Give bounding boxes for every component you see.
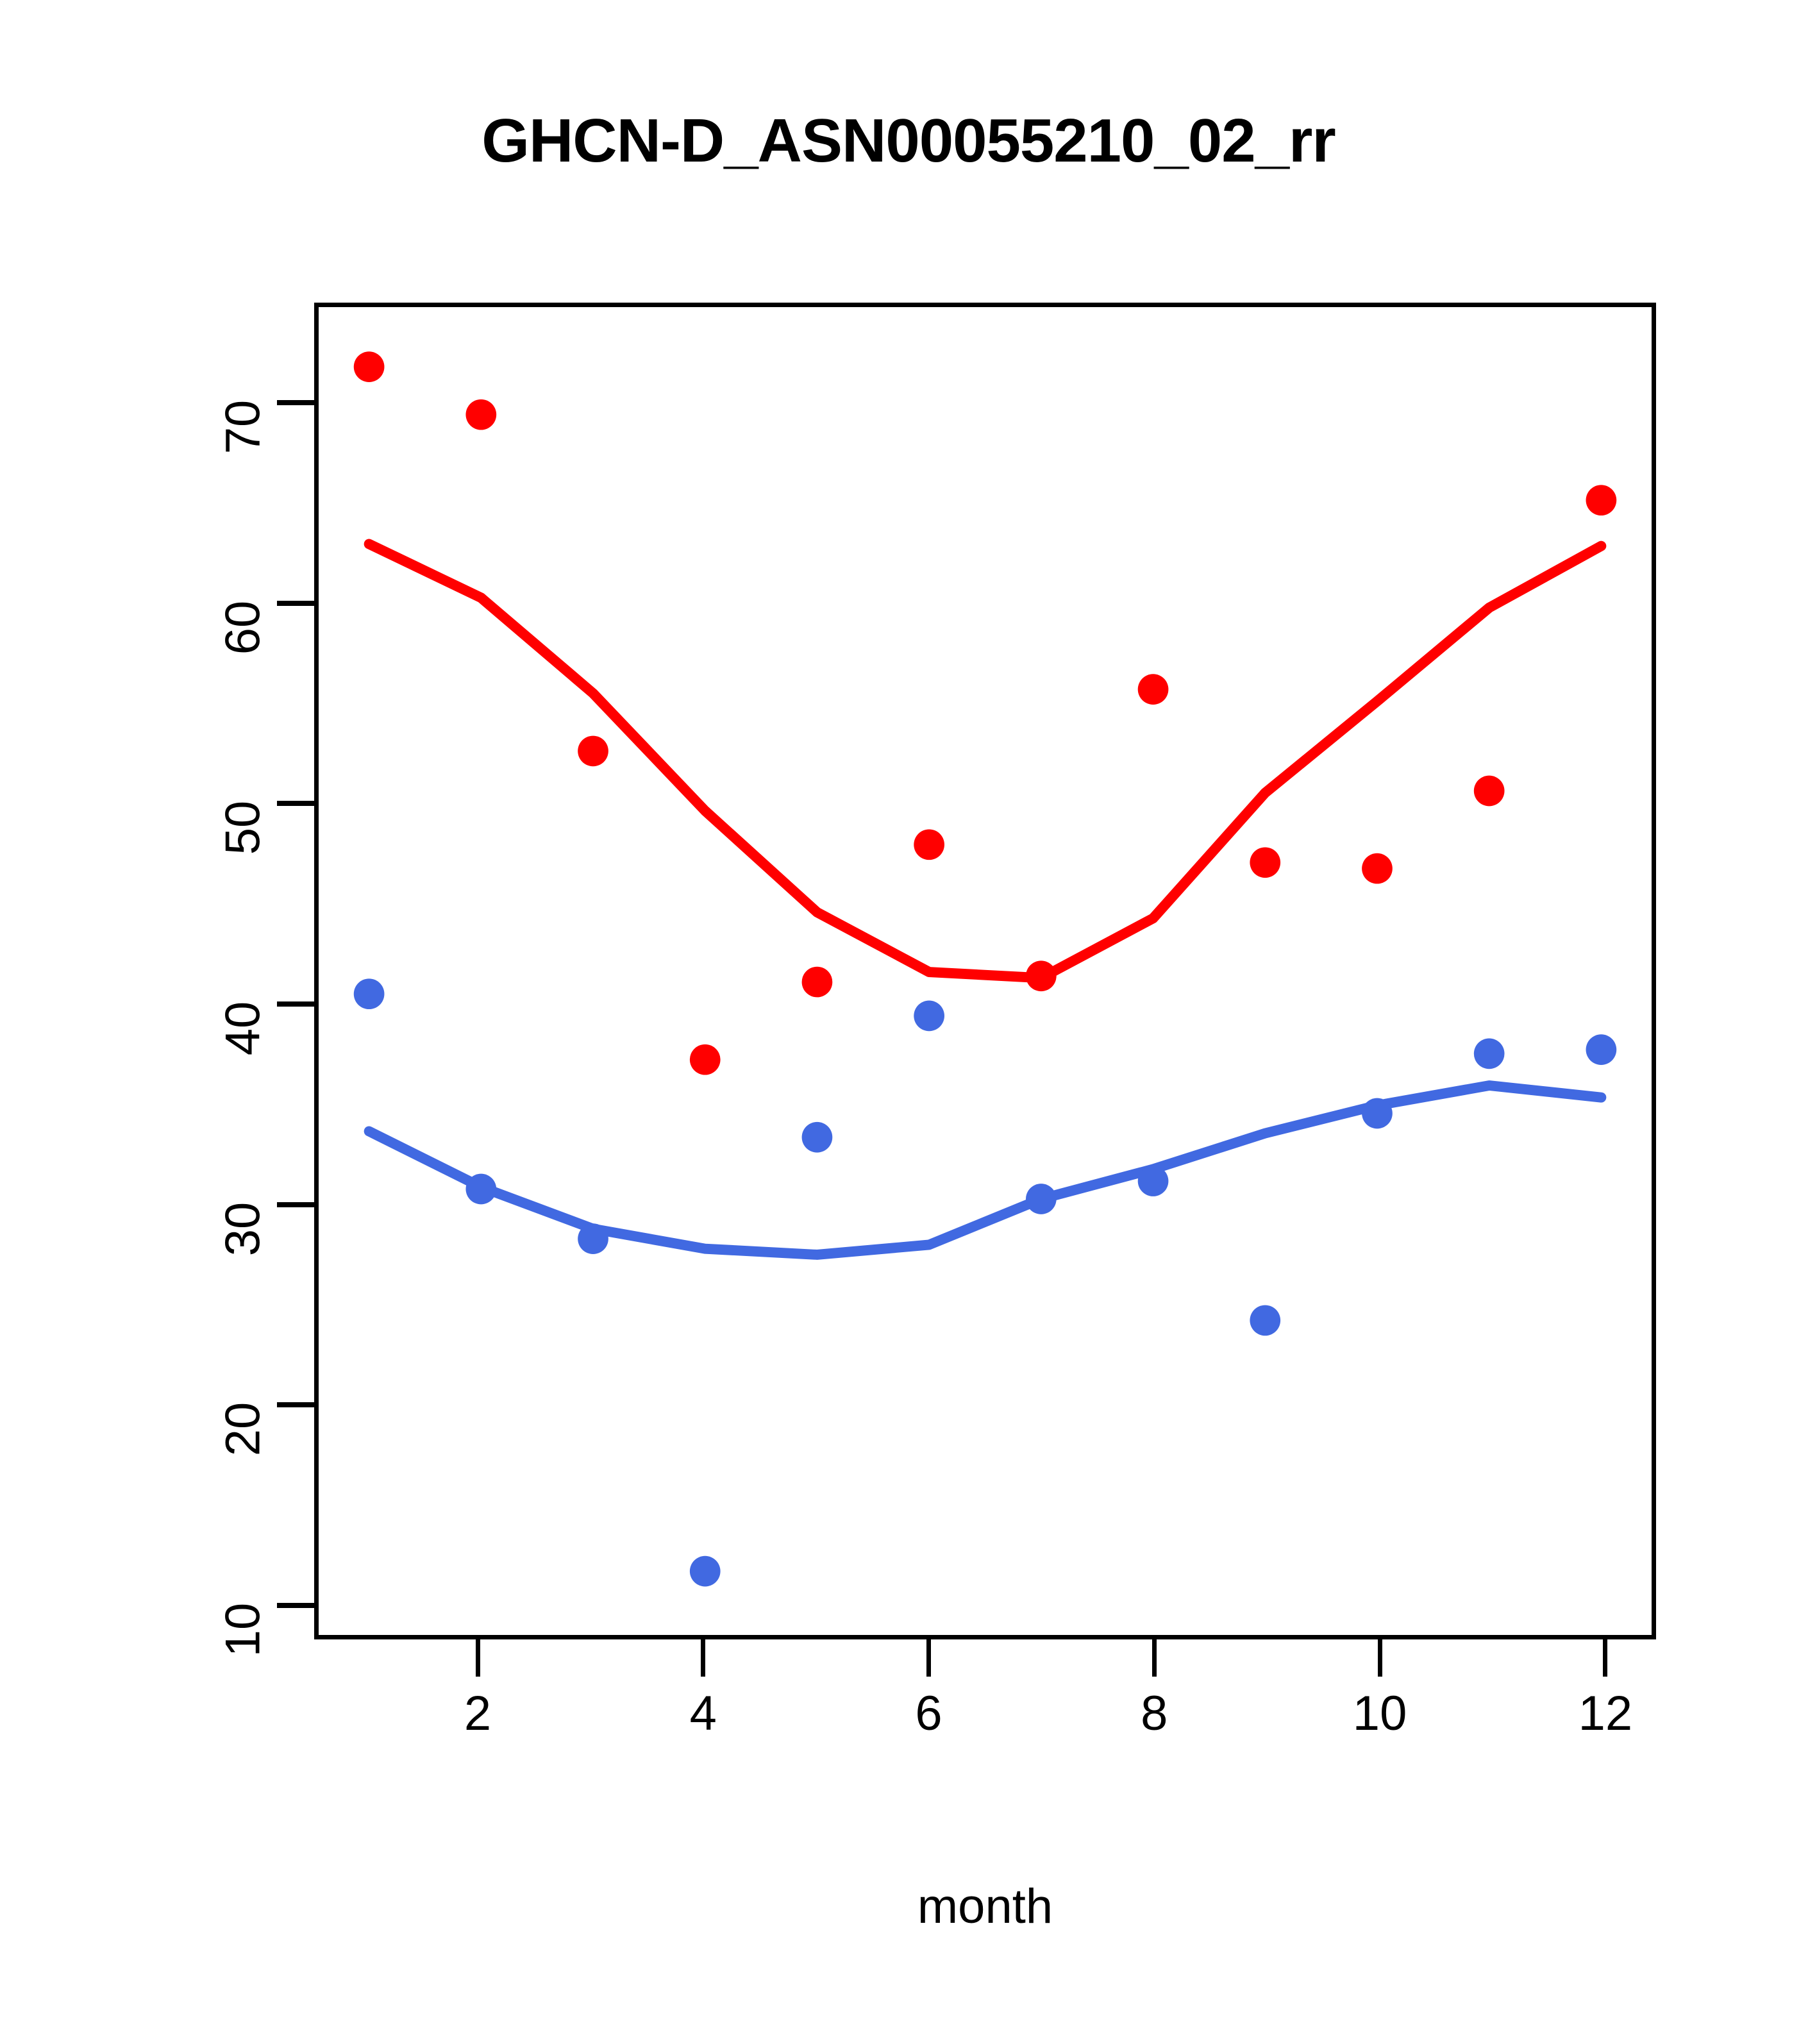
data-point <box>1026 960 1057 991</box>
y-tick-mark <box>277 1001 314 1007</box>
y-tick-mark <box>277 400 314 405</box>
series-line-red-smooth-line <box>369 544 1602 978</box>
data-point <box>354 351 385 382</box>
data-point <box>578 1223 608 1254</box>
x-tick-mark <box>1152 1639 1157 1677</box>
data-point <box>465 1174 496 1205</box>
chart-figure: GHCN-D_ASN00055210_02_rr 10203040506070 … <box>0 0 1817 2044</box>
x-tick-label: 8 <box>1141 1689 1168 1738</box>
plot-area <box>314 303 1656 1639</box>
x-tick-mark <box>926 1639 931 1677</box>
y-tick-label: 10 <box>219 1603 268 1657</box>
x-tick-label: 4 <box>690 1689 717 1738</box>
x-tick-label: 6 <box>915 1689 942 1738</box>
data-point <box>1138 1166 1169 1196</box>
y-tick-mark <box>277 1202 314 1207</box>
data-point <box>802 967 833 998</box>
data-point <box>690 1556 721 1587</box>
x-tick-label: 2 <box>464 1689 491 1738</box>
y-tick-mark <box>277 801 314 806</box>
data-point <box>1362 853 1393 884</box>
chart-title: GHCN-D_ASN00055210_02_rr <box>0 106 1817 176</box>
data-point <box>690 1044 721 1075</box>
x-tick-mark <box>701 1639 705 1677</box>
y-tick-mark <box>277 1402 314 1407</box>
data-point <box>1362 1098 1393 1129</box>
data-point <box>1250 847 1280 878</box>
x-tick-mark <box>1603 1639 1607 1677</box>
x-tick-label: 10 <box>1353 1689 1407 1738</box>
data-point <box>914 1001 944 1032</box>
y-tick-mark <box>277 601 314 606</box>
data-point <box>465 399 496 430</box>
y-tick-label: 20 <box>219 1402 268 1457</box>
data-point <box>354 978 385 1009</box>
y-tick-label: 30 <box>219 1202 268 1256</box>
x-axis-label: month <box>314 1879 1656 1934</box>
x-tick-mark <box>1378 1639 1382 1677</box>
y-axis: 10203040506070 <box>0 303 314 1639</box>
data-point <box>1474 776 1505 807</box>
x-tick-label: 12 <box>1578 1689 1633 1738</box>
series-line-blue-smooth-line <box>369 1085 1602 1255</box>
data-point <box>914 829 944 860</box>
data-point <box>1474 1039 1505 1069</box>
x-axis: 24681012 <box>314 1639 1656 1896</box>
data-point <box>578 736 608 767</box>
y-tick-label: 60 <box>219 601 268 655</box>
data-point <box>1586 485 1617 515</box>
data-point <box>1026 1184 1057 1214</box>
x-tick-mark <box>476 1639 480 1677</box>
y-tick-label: 70 <box>219 400 268 455</box>
data-point <box>1586 1034 1617 1065</box>
data-point <box>802 1122 833 1153</box>
y-tick-mark <box>277 1603 314 1608</box>
data-point <box>1138 674 1169 705</box>
y-tick-label: 40 <box>219 1001 268 1056</box>
plot-svg <box>319 307 1652 1635</box>
y-tick-label: 50 <box>219 801 268 855</box>
data-point <box>1250 1305 1280 1336</box>
